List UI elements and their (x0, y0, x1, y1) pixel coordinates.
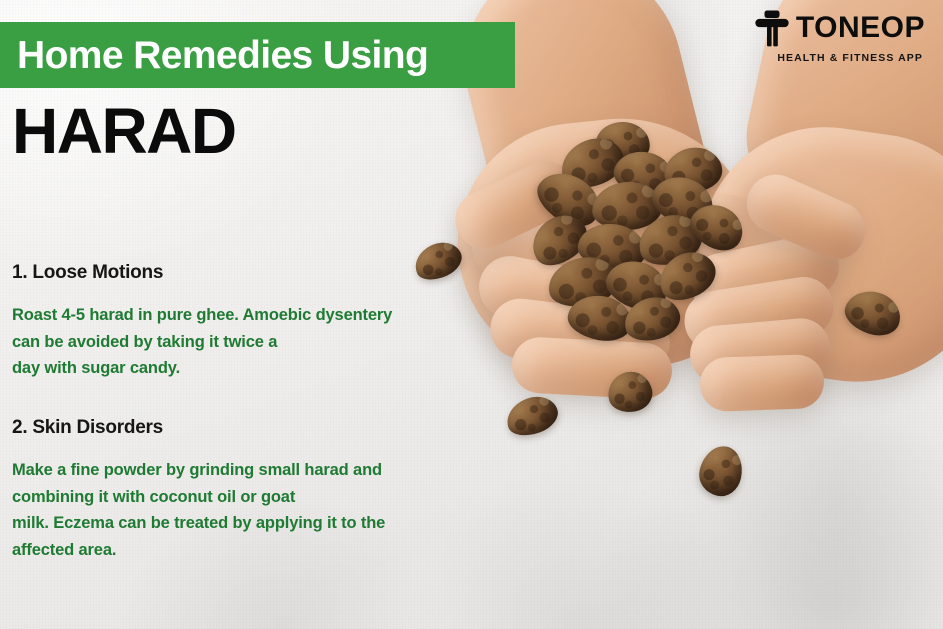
right-hand-finger (699, 354, 825, 412)
remedy-body: Roast 4-5 harad in pure ghee. Amoebic dy… (12, 302, 512, 382)
remedy-section-1: 1. Loose Motions Roast 4-5 harad in pure… (12, 262, 512, 382)
brand-logo[interactable]: TONEOP HEALTH & FITNESS APP (752, 8, 925, 64)
banner-title: Home Remedies Using (0, 36, 428, 75)
brand-tagline: HEALTH & FITNESS APP (777, 52, 923, 64)
page-title: HARAD (12, 98, 236, 165)
toneop-t-logo-icon (752, 8, 792, 48)
scattered-harad-fruit-icon (695, 442, 746, 500)
remedy-section-2: 2. Skin Disorders Make a fine powder by … (12, 417, 512, 564)
brand-name: TONEOP (796, 13, 925, 43)
header-banner: Home Remedies Using (0, 22, 515, 88)
remedy-heading: 1. Loose Motions (12, 262, 512, 285)
remedy-heading: 2. Skin Disorders (12, 417, 512, 440)
brand-logo-row: TONEOP (752, 8, 925, 48)
remedy-body: Make a fine powder by grinding small har… (12, 457, 512, 564)
infographic-poster: Home Remedies Using HARAD 1. Loose Motio… (0, 0, 943, 629)
